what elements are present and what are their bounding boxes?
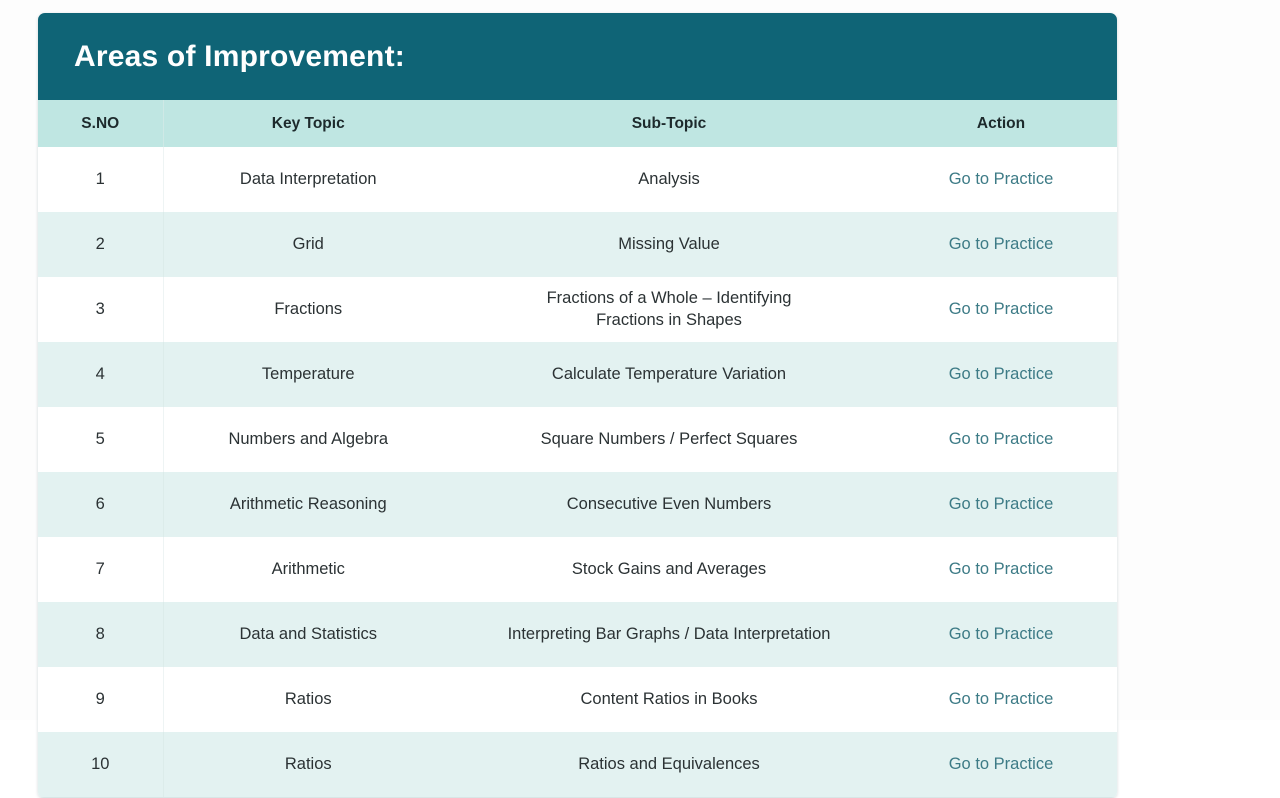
- go-to-practice-link[interactable]: Go to Practice: [949, 235, 1054, 253]
- cell-sub-topic: Consecutive Even Numbers: [453, 472, 885, 537]
- cell-key-topic: Arithmetic: [163, 537, 453, 602]
- page-title: Areas of Improvement:: [74, 42, 405, 72]
- cell-sub-topic: Interpreting Bar Graphs / Data Interpret…: [453, 602, 885, 667]
- sub-topic-line: Stock Gains and Averages: [461, 559, 877, 580]
- cell-key-topic: Data Interpretation: [163, 147, 453, 212]
- areas-of-improvement-card: Areas of Improvement: S.NO Key Topic Sub…: [38, 13, 1117, 798]
- cell-sno: 10: [38, 732, 163, 798]
- table-row: 10RatiosRatios and EquivalencesGo to Pra…: [38, 732, 1117, 798]
- table-header-row: S.NO Key Topic Sub-Topic Action: [38, 100, 1117, 147]
- cell-sub-topic: Stock Gains and Averages: [453, 537, 885, 602]
- cell-sno: 6: [38, 472, 163, 537]
- cell-action: Go to Practice: [885, 277, 1117, 342]
- cell-sub-topic: Calculate Temperature Variation: [453, 342, 885, 407]
- sub-topic-line: Fractions of a Whole – Identifying: [461, 288, 877, 309]
- table-row: 7ArithmeticStock Gains and AveragesGo to…: [38, 537, 1117, 602]
- sub-topic-line: Calculate Temperature Variation: [461, 364, 877, 385]
- cell-sno: 2: [38, 212, 163, 277]
- go-to-practice-link[interactable]: Go to Practice: [949, 430, 1054, 448]
- go-to-practice-link[interactable]: Go to Practice: [949, 300, 1054, 318]
- go-to-practice-link[interactable]: Go to Practice: [949, 495, 1054, 513]
- cell-action: Go to Practice: [885, 732, 1117, 798]
- table-row: 1Data InterpretationAnalysisGo to Practi…: [38, 147, 1117, 212]
- areas-of-improvement-table: S.NO Key Topic Sub-Topic Action 1Data In…: [38, 100, 1117, 798]
- table-row: 5Numbers and AlgebraSquare Numbers / Per…: [38, 407, 1117, 472]
- cell-sno: 8: [38, 602, 163, 667]
- sub-topic-line: Consecutive Even Numbers: [461, 494, 877, 515]
- cell-action: Go to Practice: [885, 537, 1117, 602]
- table-row: 6Arithmetic ReasoningConsecutive Even Nu…: [38, 472, 1117, 537]
- cell-sub-topic: Content Ratios in Books: [453, 667, 885, 732]
- cell-key-topic: Ratios: [163, 732, 453, 798]
- table-row: 3FractionsFractions of a Whole – Identif…: [38, 277, 1117, 342]
- column-header-sub-topic: Sub-Topic: [453, 100, 885, 147]
- cell-sno: 7: [38, 537, 163, 602]
- cell-sub-topic: Fractions of a Whole – IdentifyingFracti…: [453, 277, 885, 342]
- cell-action: Go to Practice: [885, 602, 1117, 667]
- cell-action: Go to Practice: [885, 212, 1117, 277]
- go-to-practice-link[interactable]: Go to Practice: [949, 690, 1054, 708]
- cell-sub-topic: Analysis: [453, 147, 885, 212]
- sub-topic-line: Missing Value: [461, 234, 877, 255]
- sub-topic-line: Content Ratios in Books: [461, 689, 877, 710]
- table-row: 9RatiosContent Ratios in BooksGo to Prac…: [38, 667, 1117, 732]
- cell-sno: 9: [38, 667, 163, 732]
- sub-topic-line: Analysis: [461, 169, 877, 190]
- cell-action: Go to Practice: [885, 667, 1117, 732]
- cell-sno: 1: [38, 147, 163, 212]
- column-header-sno: S.NO: [38, 100, 163, 147]
- go-to-practice-link[interactable]: Go to Practice: [949, 365, 1054, 383]
- card-header: Areas of Improvement:: [38, 13, 1117, 100]
- go-to-practice-link[interactable]: Go to Practice: [949, 625, 1054, 643]
- table-row: 4TemperatureCalculate Temperature Variat…: [38, 342, 1117, 407]
- cell-sub-topic: Square Numbers / Perfect Squares: [453, 407, 885, 472]
- cell-key-topic: Grid: [163, 212, 453, 277]
- cell-sno: 5: [38, 407, 163, 472]
- cell-key-topic: Temperature: [163, 342, 453, 407]
- sub-topic-line: Interpreting Bar Graphs / Data Interpret…: [461, 624, 877, 645]
- column-header-key-topic: Key Topic: [163, 100, 453, 147]
- cell-action: Go to Practice: [885, 147, 1117, 212]
- go-to-practice-link[interactable]: Go to Practice: [949, 170, 1054, 188]
- column-header-action: Action: [885, 100, 1117, 147]
- cell-sub-topic: Missing Value: [453, 212, 885, 277]
- sub-topic-line: Square Numbers / Perfect Squares: [461, 429, 877, 450]
- cell-key-topic: Arithmetic Reasoning: [163, 472, 453, 537]
- cell-key-topic: Data and Statistics: [163, 602, 453, 667]
- cell-sno: 3: [38, 277, 163, 342]
- cell-key-topic: Numbers and Algebra: [163, 407, 453, 472]
- page-root: Areas of Improvement: S.NO Key Topic Sub…: [0, 0, 1280, 720]
- table-row: 2GridMissing ValueGo to Practice: [38, 212, 1117, 277]
- cell-key-topic: Ratios: [163, 667, 453, 732]
- cell-action: Go to Practice: [885, 472, 1117, 537]
- table-row: 8Data and StatisticsInterpreting Bar Gra…: [38, 602, 1117, 667]
- go-to-practice-link[interactable]: Go to Practice: [949, 560, 1054, 578]
- table-header: S.NO Key Topic Sub-Topic Action: [38, 100, 1117, 147]
- sub-topic-line: Ratios and Equivalences: [461, 754, 877, 775]
- table-body: 1Data InterpretationAnalysisGo to Practi…: [38, 147, 1117, 798]
- go-to-practice-link[interactable]: Go to Practice: [949, 755, 1054, 773]
- cell-action: Go to Practice: [885, 342, 1117, 407]
- cell-action: Go to Practice: [885, 407, 1117, 472]
- cell-sno: 4: [38, 342, 163, 407]
- cell-key-topic: Fractions: [163, 277, 453, 342]
- sub-topic-line: Fractions in Shapes: [461, 310, 877, 331]
- cell-sub-topic: Ratios and Equivalences: [453, 732, 885, 798]
